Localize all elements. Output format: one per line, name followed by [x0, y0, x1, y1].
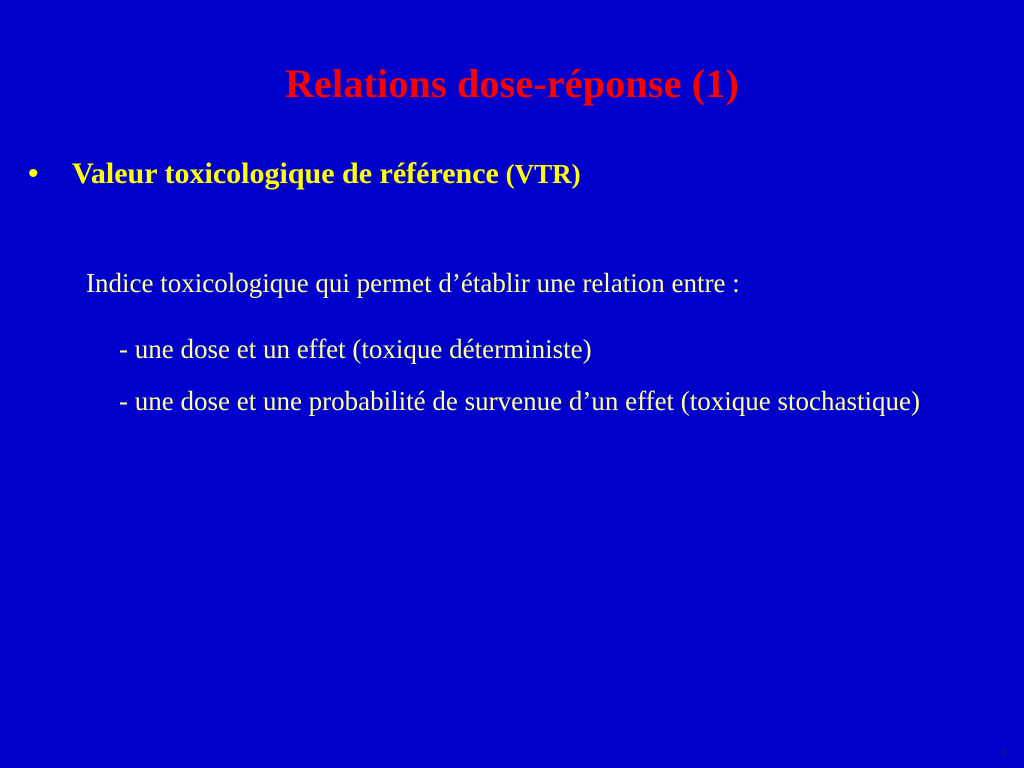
bullet-item-vtr: • Valeur toxicologique de référence (VTR… [28, 157, 988, 190]
bullet-item-label-bold: Valeur toxicologique de référence [72, 157, 499, 190]
body-intro-line: Indice toxicologique qui permet d’établi… [86, 270, 986, 297]
body-list-item: - une dose et un effet (toxique détermin… [86, 330, 963, 368]
body-list-item: - une dose et une probabilité de survenu… [86, 382, 963, 420]
body-content: Indice toxicologique qui permet d’établi… [86, 270, 986, 429]
slide-canvas: Relations dose-réponse (1) • Valeur toxi… [0, 0, 1024, 768]
page-number: 9 [1001, 749, 1007, 760]
bullet-point-icon: • [28, 159, 72, 189]
bullet-item-label: Valeur toxicologique de référence (VTR) [72, 157, 581, 190]
page-title: Relations dose-réponse (1) [0, 64, 1024, 104]
bullet-item-label-suffix: (VTR) [499, 159, 581, 189]
